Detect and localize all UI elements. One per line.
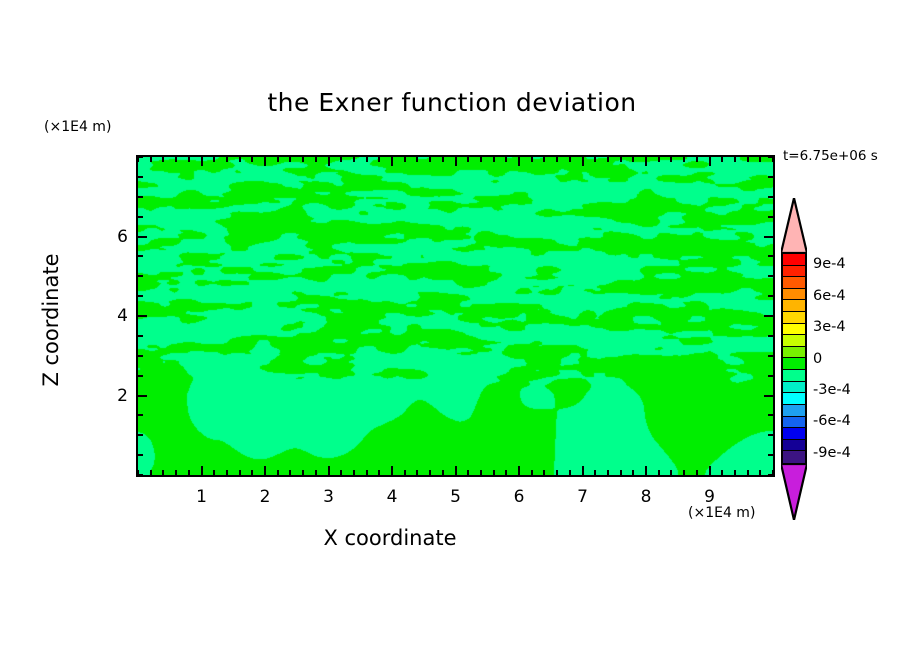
x-tick-label: 4: [387, 487, 398, 507]
x-tick-minor: [556, 470, 558, 475]
x-tick-major-top: [201, 157, 203, 166]
x-tick-minor-top: [467, 157, 469, 162]
x-tick-minor-top: [251, 157, 253, 162]
x-tick-minor: [150, 470, 152, 475]
x-tick-minor-top: [620, 157, 622, 162]
y-tick-minor-right: [768, 375, 773, 377]
x-tick-minor-top: [239, 157, 241, 162]
y-tick-minor-right: [768, 355, 773, 357]
x-tick-major-top: [455, 157, 457, 166]
x-tick-minor-top: [734, 157, 736, 162]
colorbar-band: [783, 440, 805, 452]
y-tick-major: [138, 395, 147, 397]
x-tick-minor: [188, 470, 190, 475]
x-tick-minor: [353, 470, 355, 475]
x-tick-minor-top: [658, 157, 660, 162]
colorbar-band: [783, 393, 805, 405]
x-tick-major: [201, 466, 203, 475]
y-tick-major-right: [764, 395, 773, 397]
x-tick-major: [518, 466, 520, 475]
colorbar-band: [783, 417, 805, 429]
y-tick-minor: [138, 216, 143, 218]
x-tick-minor-top: [505, 157, 507, 162]
y-tick-major-right: [764, 315, 773, 317]
y-axis-unit-label: (×1E4 m): [44, 119, 111, 135]
x-tick-minor: [175, 470, 177, 475]
x-tick-minor-top: [188, 157, 190, 162]
x-tick-minor: [569, 470, 571, 475]
y-tick-minor: [138, 454, 143, 456]
x-tick-minor: [162, 470, 164, 475]
x-tick-minor-top: [289, 157, 291, 162]
colorbar-over-arrow-icon: [781, 198, 807, 253]
x-tick-minor-top: [607, 157, 609, 162]
x-tick-label: 3: [323, 487, 334, 507]
x-tick-minor: [594, 470, 596, 475]
y-tick-minor-right: [768, 474, 773, 476]
colorbar-tick-label: 6e-4: [813, 288, 846, 304]
x-tick-minor-top: [670, 157, 672, 162]
colorbar-tick-label: 9e-4: [813, 256, 846, 272]
x-tick-minor: [226, 470, 228, 475]
y-tick-major: [138, 236, 147, 238]
x-tick-minor: [493, 470, 495, 475]
colorbar-band: [783, 266, 805, 278]
colorbar-band: [783, 324, 805, 336]
y-tick-minor: [138, 275, 143, 277]
x-tick-minor: [632, 470, 634, 475]
y-axis-title: Z coordinate: [39, 230, 63, 410]
x-tick-minor-top: [162, 157, 164, 162]
plot-area: [136, 155, 775, 477]
x-tick-minor: [467, 470, 469, 475]
y-tick-label: 6: [104, 227, 128, 247]
x-tick-minor-top: [429, 157, 431, 162]
x-tick-minor: [747, 470, 749, 475]
x-tick-minor-top: [277, 157, 279, 162]
x-tick-major: [645, 466, 647, 475]
y-tick-minor: [138, 255, 143, 257]
colorbar-under-arrow-icon: [781, 464, 807, 520]
x-tick-minor: [543, 470, 545, 475]
x-tick-minor: [251, 470, 253, 475]
x-tick-minor-top: [315, 157, 317, 162]
colorbar-band: [783, 335, 805, 347]
y-tick-minor-right: [768, 255, 773, 257]
y-tick-minor: [138, 295, 143, 297]
x-tick-minor-top: [340, 157, 342, 162]
x-tick-minor: [315, 470, 317, 475]
x-tick-minor: [302, 470, 304, 475]
y-tick-minor: [138, 335, 143, 337]
x-tick-minor-top: [302, 157, 304, 162]
y-tick-minor: [138, 434, 143, 436]
contour-field: [138, 157, 773, 475]
x-tick-minor: [277, 470, 279, 475]
colorbar: [779, 198, 809, 520]
x-tick-minor-top: [175, 157, 177, 162]
colorbar-band: [783, 405, 805, 417]
x-tick-minor: [683, 470, 685, 475]
timestamp-annotation: t=6.75e+06 s: [783, 148, 878, 164]
x-tick-label: 6: [514, 487, 525, 507]
colorbar-bands: [781, 252, 807, 465]
x-tick-minor-top: [632, 157, 634, 162]
colorbar-band: [783, 358, 805, 370]
y-tick-minor-right: [768, 414, 773, 416]
x-tick-minor: [442, 470, 444, 475]
colorbar-band: [783, 254, 805, 266]
colorbar-band: [783, 382, 805, 394]
x-tick-minor-top: [226, 157, 228, 162]
x-tick-label: 9: [704, 487, 715, 507]
x-tick-minor-top: [543, 157, 545, 162]
x-tick-minor: [289, 470, 291, 475]
colorbar-band: [783, 289, 805, 301]
x-tick-major-top: [518, 157, 520, 166]
x-tick-major-top: [264, 157, 266, 166]
x-tick-major-top: [582, 157, 584, 166]
x-tick-minor-top: [721, 157, 723, 162]
x-tick-label: 7: [577, 487, 588, 507]
page-title: the Exner function deviation: [0, 88, 904, 117]
colorbar-tick-label: -3e-4: [813, 382, 851, 398]
colorbar-band: [783, 451, 805, 463]
y-tick-minor: [138, 176, 143, 178]
x-tick-minor: [404, 470, 406, 475]
y-tick-minor-right: [768, 176, 773, 178]
x-tick-minor: [239, 470, 241, 475]
x-tick-label: 8: [641, 487, 652, 507]
x-tick-minor: [696, 470, 698, 475]
x-tick-minor-top: [683, 157, 685, 162]
colorbar-tick-label: 0: [813, 351, 822, 367]
colorbar-band: [783, 370, 805, 382]
x-tick-minor-top: [366, 157, 368, 162]
colorbar-band: [783, 277, 805, 289]
x-tick-major: [455, 466, 457, 475]
x-tick-minor-top: [594, 157, 596, 162]
x-tick-minor: [429, 470, 431, 475]
y-tick-label: 2: [104, 386, 128, 406]
x-tick-label: 5: [450, 487, 461, 507]
x-tick-label: 1: [196, 487, 207, 507]
y-tick-minor: [138, 196, 143, 198]
colorbar-band: [783, 300, 805, 312]
y-tick-minor-right: [768, 335, 773, 337]
x-tick-minor: [416, 470, 418, 475]
y-tick-major-right: [764, 236, 773, 238]
x-tick-minor-top: [353, 157, 355, 162]
x-tick-minor-top: [556, 157, 558, 162]
x-tick-minor: [505, 470, 507, 475]
x-tick-minor: [378, 470, 380, 475]
x-axis-title: X coordinate: [0, 526, 780, 550]
x-tick-minor: [340, 470, 342, 475]
y-tick-minor: [138, 414, 143, 416]
x-tick-major: [391, 466, 393, 475]
x-tick-major: [328, 466, 330, 475]
y-tick-major: [138, 315, 147, 317]
x-tick-major-top: [391, 157, 393, 166]
x-tick-minor: [607, 470, 609, 475]
x-tick-minor: [721, 470, 723, 475]
x-tick-major-top: [328, 157, 330, 166]
y-tick-minor-right: [768, 156, 773, 158]
x-tick-minor: [620, 470, 622, 475]
colorbar-band: [783, 428, 805, 440]
colorbar-tick-label: 3e-4: [813, 319, 846, 335]
x-tick-minor-top: [696, 157, 698, 162]
x-tick-minor-top: [213, 157, 215, 162]
x-tick-minor-top: [404, 157, 406, 162]
x-tick-minor: [670, 470, 672, 475]
y-tick-minor-right: [768, 216, 773, 218]
x-tick-major-top: [709, 157, 711, 166]
colorbar-band: [783, 347, 805, 359]
y-tick-minor: [138, 474, 143, 476]
x-tick-minor-top: [747, 157, 749, 162]
x-tick-minor-top: [759, 157, 761, 162]
x-tick-minor-top: [569, 157, 571, 162]
y-tick-minor: [138, 375, 143, 377]
x-tick-major: [264, 466, 266, 475]
x-tick-minor: [480, 470, 482, 475]
y-tick-minor: [138, 156, 143, 158]
x-tick-minor: [658, 470, 660, 475]
x-tick-minor-top: [480, 157, 482, 162]
x-axis-unit-label: (×1E4 m): [688, 505, 755, 521]
y-tick-label: 4: [104, 306, 128, 326]
x-tick-minor: [759, 470, 761, 475]
x-tick-major: [582, 466, 584, 475]
x-tick-minor-top: [378, 157, 380, 162]
colorbar-tick-label: -6e-4: [813, 413, 851, 429]
y-tick-minor-right: [768, 275, 773, 277]
x-tick-minor-top: [493, 157, 495, 162]
x-tick-minor-top: [531, 157, 533, 162]
y-tick-minor: [138, 355, 143, 357]
x-tick-minor-top: [150, 157, 152, 162]
colorbar-band: [783, 312, 805, 324]
x-tick-minor-top: [442, 157, 444, 162]
x-tick-major-top: [645, 157, 647, 166]
colorbar-tick-label: -9e-4: [813, 445, 851, 461]
x-tick-minor: [366, 470, 368, 475]
x-tick-major: [709, 466, 711, 475]
y-tick-minor-right: [768, 434, 773, 436]
y-tick-minor-right: [768, 454, 773, 456]
x-tick-minor: [734, 470, 736, 475]
x-tick-label: 2: [260, 487, 271, 507]
x-tick-minor: [213, 470, 215, 475]
x-tick-minor-top: [416, 157, 418, 162]
y-tick-minor-right: [768, 196, 773, 198]
x-tick-minor: [531, 470, 533, 475]
y-tick-minor-right: [768, 295, 773, 297]
